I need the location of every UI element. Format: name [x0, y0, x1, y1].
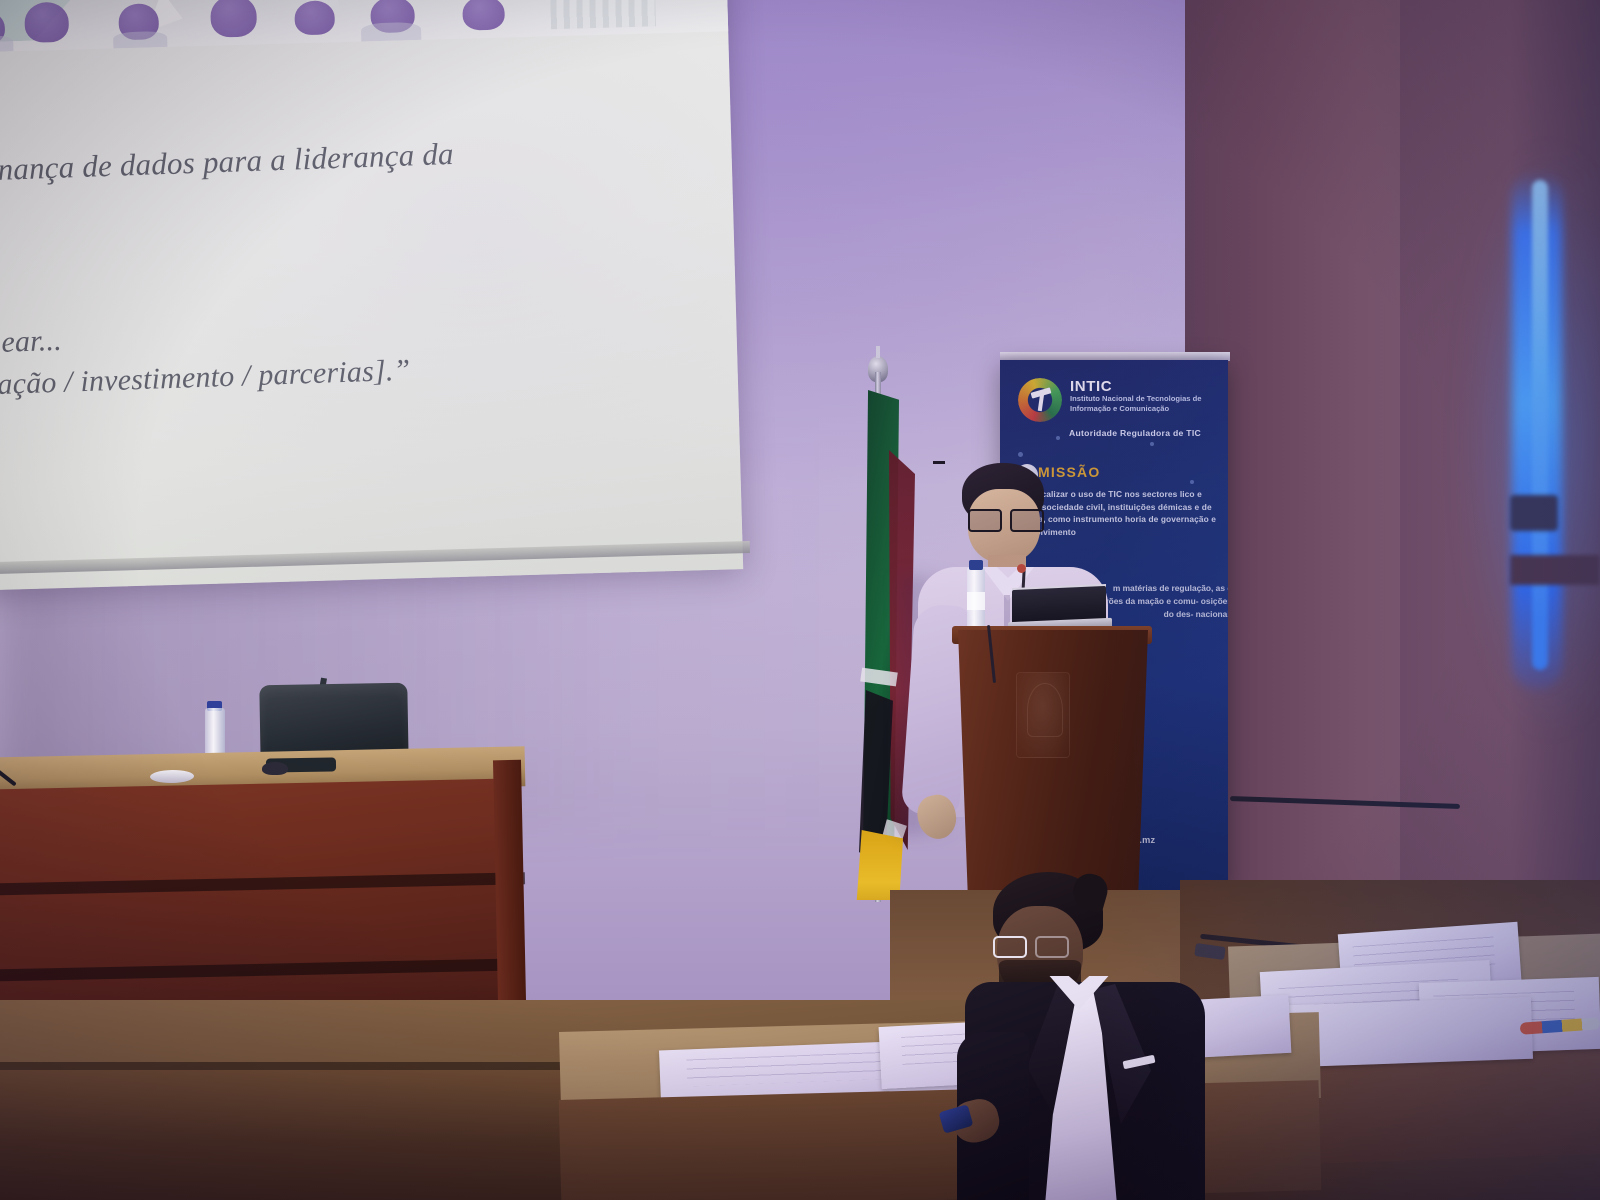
- bottle-label: [967, 592, 985, 610]
- conference-scene: governança de dados para a liderança da …: [0, 0, 1600, 1200]
- banner-sparkle: [1190, 480, 1194, 484]
- slide-line-1: governança de dados para a liderança da: [0, 128, 686, 191]
- gavel-icon: [1031, 388, 1051, 412]
- projection-screen: governança de dados para a liderança da …: [0, 0, 743, 591]
- photo-body: [113, 31, 167, 49]
- intic-logo-icon: [1018, 378, 1062, 422]
- banner-org-name: Instituto Nacional de Tecnologias de Inf…: [1070, 394, 1228, 414]
- led-core: [1532, 180, 1548, 670]
- photo-head: [294, 0, 335, 35]
- banner-sparkle: [1150, 442, 1154, 446]
- wall-shelf: [1510, 555, 1600, 585]
- foreground-attendee: [935, 872, 1235, 1200]
- slide-text-block: governança de dados para a liderança da …: [0, 128, 694, 404]
- photo-body: [361, 22, 421, 42]
- eyeglasses-icon: [993, 936, 1071, 954]
- photo-head: [462, 0, 505, 31]
- slide-photo-strip: [0, 0, 728, 53]
- eyeglasses-bridge: [933, 461, 945, 464]
- slide-line-2: é...: [0, 186, 688, 249]
- eyeglasses-icon: [966, 509, 1044, 528]
- wireless-mouse: [262, 762, 288, 775]
- photo-stripe-shape: [550, 0, 656, 29]
- podium-crest-icon: [1016, 672, 1070, 758]
- bottle-cap: [969, 560, 983, 570]
- photo-head: [24, 2, 69, 43]
- banner-org-acronym: INTIC: [1070, 378, 1112, 395]
- photo-head: [210, 0, 257, 38]
- led-bracket: [1510, 495, 1558, 531]
- banner-role-line: Autoridade Reguladora de TIC: [1040, 428, 1228, 438]
- microphone-icon: [1017, 564, 1026, 573]
